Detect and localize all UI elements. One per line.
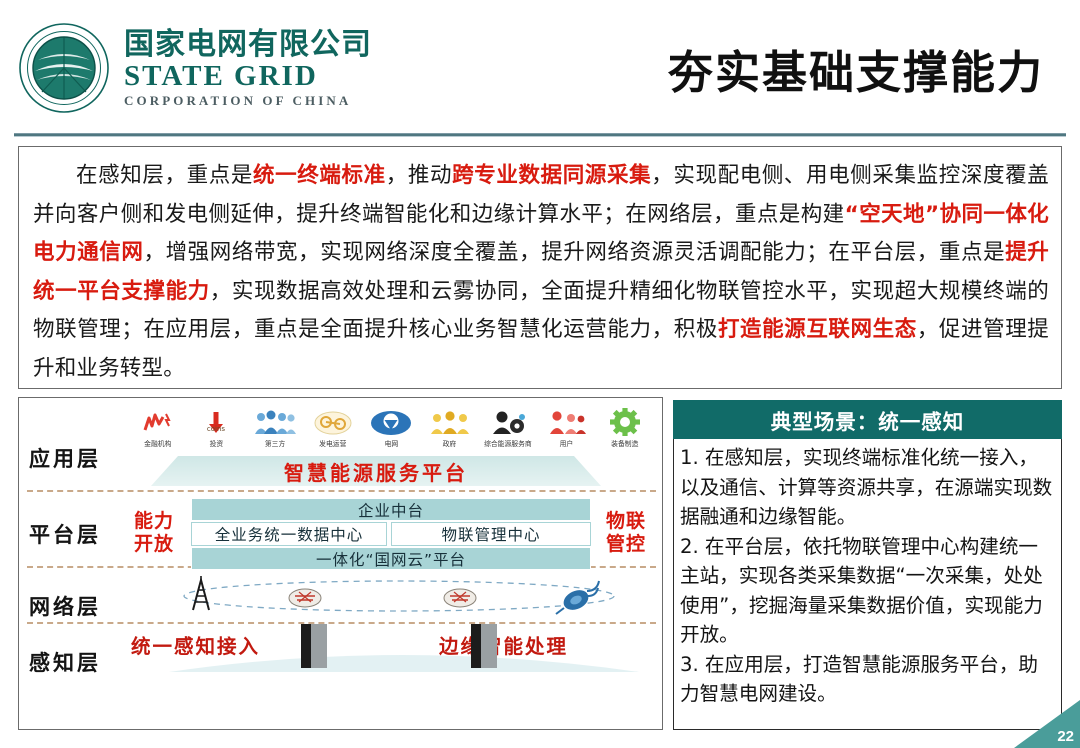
icon-label: 装备制造	[611, 438, 638, 448]
application-actor-icons: 金融机构 coins 投资 第三方 发电运营 电网 政府	[129, 406, 654, 458]
emphasis-text: 跨专业数据同源采集	[452, 163, 651, 188]
icon-label: 第三方	[265, 438, 285, 448]
gateway-pillar-left	[301, 624, 327, 668]
unified-data-center-bar: 全业务统一数据中心	[191, 522, 387, 546]
router-icon	[289, 589, 321, 607]
layer-label-network: 网络层	[29, 591, 101, 621]
logo-company-cn: 国家电网有限公司	[124, 30, 372, 60]
body-text: ，推动	[386, 163, 452, 188]
enterprise-midend-bar: 企业中台	[191, 498, 591, 521]
emphasis-text: 打造能源互联网生态	[718, 317, 917, 342]
summary-paragraph: 在感知层，重点是统一终端标准，推动跨专业数据同源采集，实现配电侧、用电侧采集监控…	[33, 157, 1049, 388]
page-title: 夯实基础支撑能力	[668, 36, 1044, 101]
grid-icon: 电网	[362, 406, 420, 458]
icon-label: 金融机构	[145, 438, 172, 448]
icon-label: 用户	[560, 438, 574, 448]
gateway-pillar-right	[471, 624, 497, 668]
state-grid-cloud-bar: 一体化“国网云”平台	[191, 547, 591, 570]
integrated-energy-service-icon: 综合能源服务商	[479, 406, 537, 458]
layer-label-platform: 平台层	[29, 519, 101, 549]
scenario-item: 1. 在感知层，实现终端标准化统一接入，以及通信、计算等资源共享，在源端实现数据…	[680, 443, 1056, 532]
investment-arrow-icon: coins 投资	[187, 406, 245, 458]
slide-root: 国家电网有限公司 STATE GRID CORPORATION OF CHINA…	[0, 0, 1080, 748]
summary-textbox: 在感知层，重点是统一终端标准，推动跨专业数据同源采集，实现配电侧、用电侧采集监控…	[18, 146, 1062, 389]
iot-control-line1: 物联	[597, 510, 655, 533]
layer-separator-1	[27, 490, 656, 492]
body-text: 在感知层，重点是	[76, 163, 253, 188]
architecture-diagram: 应用层 平台层 网络层 感知层 金融机构 coins 投资 第三方 发电	[18, 397, 663, 730]
capability-opening-tag: 能力 开放	[125, 510, 183, 556]
state-grid-globe-logo	[18, 22, 110, 114]
router-icon	[444, 589, 476, 607]
sensing-gateway-graphic	[149, 620, 654, 674]
scenario-panel-header: 典型场景：统一感知	[673, 400, 1062, 439]
icon-label: 综合能源服务商	[484, 438, 532, 448]
scenario-panel-body: 1. 在感知层，实现终端标准化统一接入，以及通信、计算等资源共享，在源端实现数据…	[673, 439, 1062, 730]
iot-control-line2: 管控	[597, 533, 655, 556]
page-number: 22	[1057, 728, 1074, 745]
emphasis-text: 统一终端标准	[253, 163, 386, 188]
header-divider	[14, 133, 1066, 137]
icon-label: 电网	[385, 438, 399, 448]
iot-control-tag: 物联 管控	[597, 510, 655, 556]
user-people-icon: 用户	[537, 406, 595, 458]
power-generation-icon: 发电运营	[304, 406, 362, 458]
typical-scenario-panel: 典型场景：统一感知 1. 在感知层，实现终端标准化统一接入，以及通信、计算等资源…	[673, 400, 1062, 730]
communication-tower-icon	[193, 576, 209, 610]
third-party-people-icon: 第三方	[246, 406, 304, 458]
slide-header: 国家电网有限公司 STATE GRID CORPORATION OF CHINA…	[0, 0, 1080, 128]
equipment-gear-icon: 装备制造	[596, 406, 654, 458]
icon-label: 投资	[210, 438, 224, 448]
capability-opening-line1: 能力	[125, 510, 183, 533]
satellite-icon	[556, 581, 599, 614]
icon-label: 发电运营	[320, 438, 347, 448]
company-logo: 国家电网有限公司 STATE GRID CORPORATION OF CHINA	[18, 22, 372, 114]
capability-opening-line2: 开放	[125, 533, 183, 556]
smart-energy-platform-banner: 智慧能源服务平台	[151, 456, 601, 486]
network-layer-graphic	[149, 576, 649, 618]
scenario-item: 2. 在平台层，依托物联管理中心构建统一主站，实现各类采集数据“一次采集，处处使…	[680, 532, 1056, 650]
scenario-panel-title: 典型场景：统一感知	[771, 405, 965, 435]
banner-label: 智慧能源服务平台	[284, 457, 468, 486]
icon-label: 政府	[443, 438, 457, 448]
page-number-corner: 22	[984, 700, 1080, 748]
svg-text:coins: coins	[207, 425, 226, 433]
logo-company-en: STATE GRID	[124, 62, 372, 91]
body-text: ，增强网络带宽，实现网络深度全覆盖，提升网络资源灵活调配能力；在平台层，重点是	[143, 240, 1005, 265]
layer-label-application: 应用层	[29, 443, 101, 473]
finance-chart-icon: 金融机构	[129, 406, 187, 458]
logo-company-sub: CORPORATION OF CHINA	[124, 94, 372, 107]
iot-management-center-bar: 物联管理中心	[391, 522, 591, 546]
layer-label-sensing: 感知层	[29, 647, 101, 677]
government-people-icon: 政府	[421, 406, 479, 458]
